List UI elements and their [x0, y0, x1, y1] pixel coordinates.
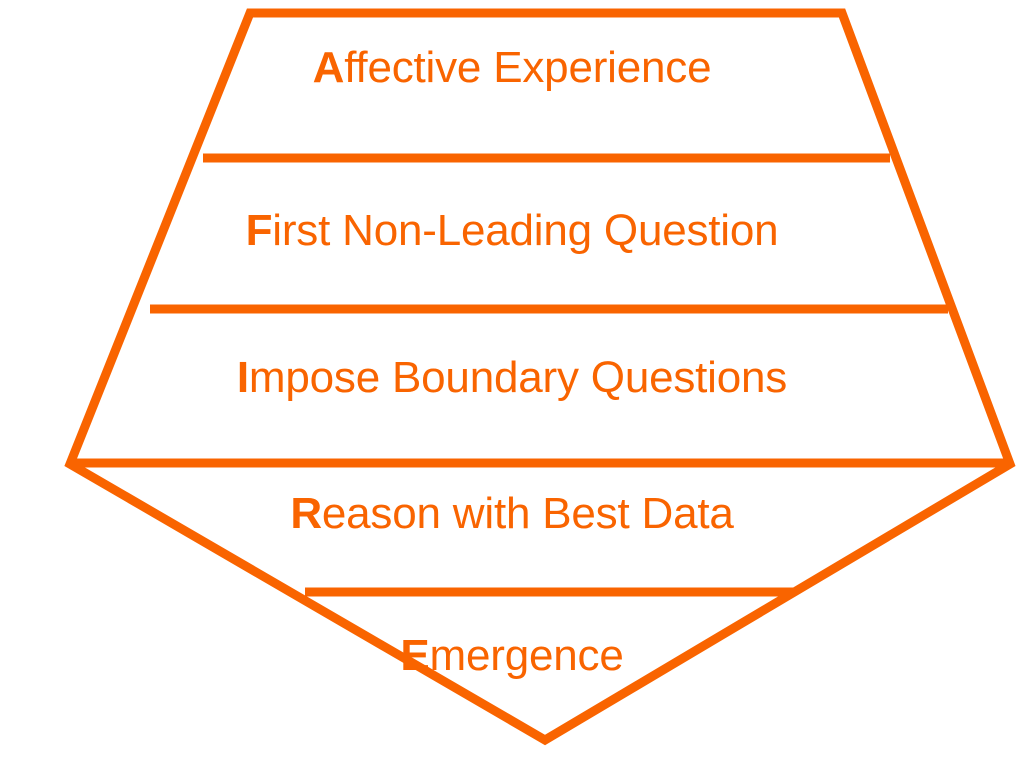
band-label-affective: Affective Experience	[0, 46, 1024, 90]
band-initial-e: E	[400, 631, 429, 680]
band-text-first: irst Non-Leading Question	[272, 206, 778, 255]
band-initial-i: I	[237, 353, 249, 402]
band-initial-a: A	[313, 43, 345, 92]
band-label-first: First Non-Leading Question	[0, 209, 1024, 253]
band-initial-f: F	[246, 206, 273, 255]
band-text-reason: eason with Best Data	[322, 489, 734, 538]
band-label-emergence: Emergence	[0, 634, 1024, 678]
band-label-impose: Impose Boundary Questions	[0, 356, 1024, 400]
band-label-reason: Reason with Best Data	[0, 492, 1024, 536]
band-text-emergence: mergence	[430, 631, 624, 680]
band-text-impose: mpose Boundary Questions	[249, 353, 787, 402]
afire-diagram: Affective Experience First Non-Leading Q…	[0, 0, 1024, 768]
band-initial-r: R	[290, 489, 322, 538]
band-text-affective: ffective Experience	[344, 43, 711, 92]
